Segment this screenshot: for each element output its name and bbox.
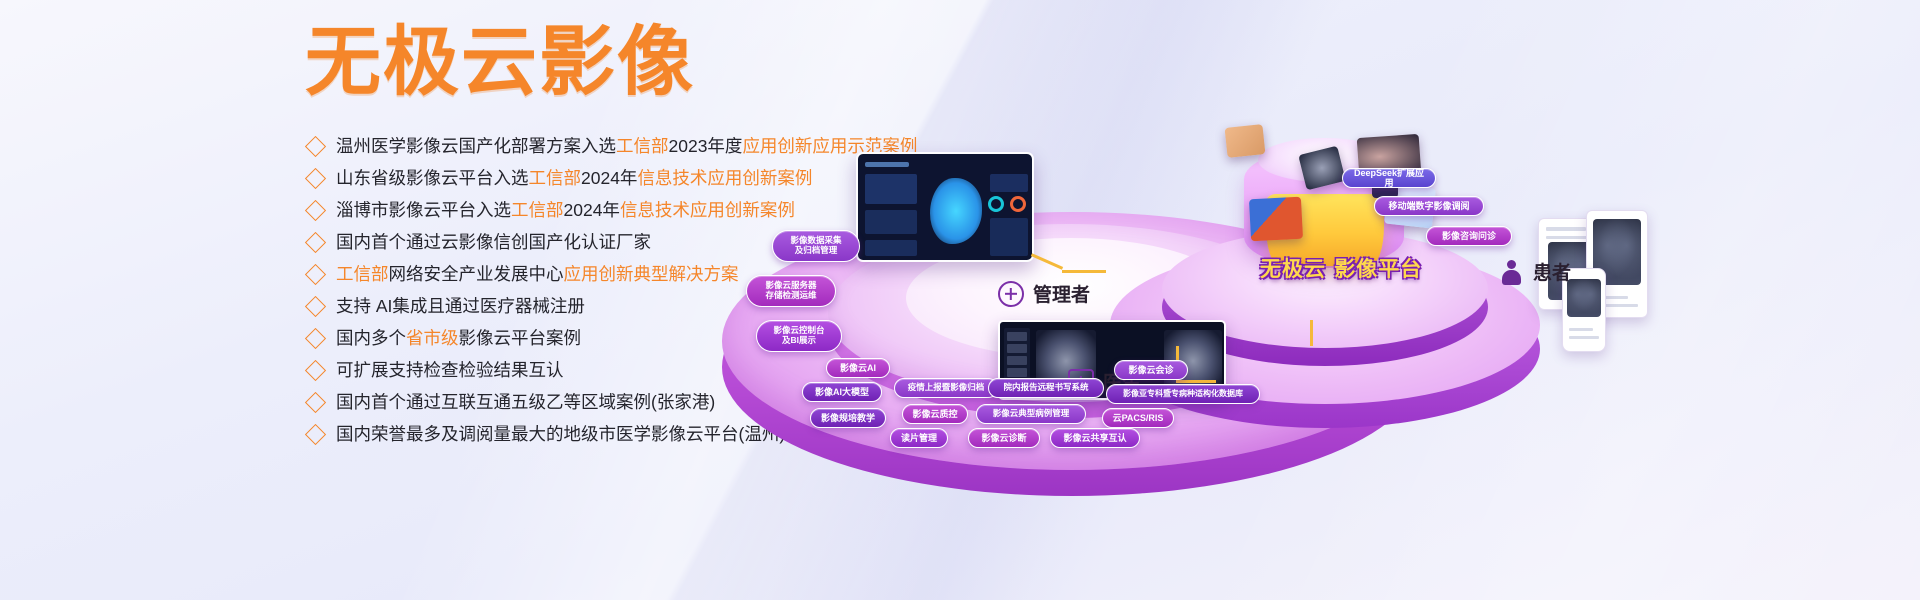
- bullet-text: 国内首个通过云影像信创国产化认证厂家: [336, 226, 651, 258]
- bullet-text-segment: 国内首个通过云影像信创国产化认证厂家: [336, 232, 651, 252]
- bullet-text-segment: 工信部: [616, 136, 669, 156]
- admin-plus-circle-icon: [998, 281, 1024, 307]
- bullet-text-segment: 工信部: [511, 200, 564, 220]
- pill-capability[interactable]: 影像咨询问诊: [1426, 226, 1512, 246]
- diamond-bullet-icon: [305, 360, 326, 381]
- scan-thumb-4: [1249, 197, 1303, 242]
- bullet-text: 国内多个省市级影像云平台案例: [336, 322, 581, 354]
- role-admin-label: 管理者: [1033, 280, 1090, 307]
- role-admin[interactable]: 管理者: [998, 280, 1090, 307]
- connector-line-5: [1310, 320, 1313, 346]
- diamond-bullet-icon: [305, 232, 326, 253]
- bullet-text-segment: 网络安全产业发展中心: [389, 264, 564, 284]
- bullet-text: 工信部网络安全产业发展中心应用创新典型解决方案: [336, 258, 739, 290]
- bullet-text: 国内首个通过互联互通五级乙等区域案例(张家港): [336, 386, 715, 418]
- pill-capability[interactable]: 影像云控制台 及BI展示: [756, 320, 842, 352]
- bullet-text-segment: 2024年: [581, 168, 637, 188]
- pill-capability[interactable]: 影像云质控: [902, 404, 968, 424]
- role-patient[interactable]: 患者: [1498, 258, 1571, 285]
- diamond-bullet-icon: [305, 136, 326, 157]
- bullet-text-segment: 省市级: [406, 328, 459, 348]
- bullet-text-segment: 山东省级影像云平台入选: [336, 168, 529, 188]
- pill-capability[interactable]: 移动端数字影像调阅: [1374, 196, 1484, 216]
- pill-capability[interactable]: 影像云共享互认: [1050, 428, 1140, 448]
- pill-capability[interactable]: 读片管理: [890, 428, 948, 448]
- cloud-imaging-infographic: 无极云 影像平台 管理者 医生 患者 影像数据采集 及归档管理 影像云服务器 存…: [710, 120, 1800, 590]
- pill-capability[interactable]: 影像云诊断: [968, 428, 1040, 448]
- pill-capability[interactable]: 云PACS/RIS: [1102, 408, 1174, 428]
- scan-thumb-1: [1225, 124, 1266, 158]
- bullet-text-segment: 2024年: [564, 200, 620, 220]
- pill-capability[interactable]: 影像规培教学: [810, 408, 886, 428]
- page-title: 无极云影像: [305, 24, 695, 100]
- diamond-bullet-icon: [305, 392, 326, 413]
- platform-badge: 无极云 影像平台: [1260, 258, 1380, 281]
- pill-capability[interactable]: 影像数据采集 及归档管理: [772, 230, 860, 262]
- bullet-text-segment: 可扩展支持检查检验结果互认: [336, 360, 564, 380]
- pill-capability[interactable]: DeepSeek扩展应用: [1342, 168, 1436, 188]
- bullet-text: 可扩展支持检查检验结果互认: [336, 354, 564, 386]
- role-patient-label: 患者: [1533, 258, 1571, 285]
- pill-capability[interactable]: 影像亚专科暨专病种适构化数据库: [1106, 384, 1260, 404]
- pill-capability[interactable]: 院内报告远程书写系统: [988, 378, 1104, 398]
- bullet-text-segment: 国内首个通过互联互通五级乙等区域案例(张家港): [336, 392, 715, 412]
- diamond-bullet-icon: [305, 424, 326, 445]
- bullet-text-segment: 淄博市影像云平台入选: [336, 200, 511, 220]
- patient-person-icon: [1498, 259, 1524, 285]
- banner-stage: 无极云影像 温州医学影像云国产化部署方案入选工信部2023年度应用创新应用示范案…: [0, 0, 1920, 600]
- diamond-bullet-icon: [305, 328, 326, 349]
- pill-capability[interactable]: 影像云典型病例管理: [976, 404, 1086, 424]
- pill-capability[interactable]: 影像AI大模型: [802, 382, 882, 402]
- bullet-text: 支持 AI集成且通过医疗器械注册: [336, 290, 585, 322]
- bullet-text-segment: 工信部: [529, 168, 582, 188]
- bullet-text-segment: 温州医学影像云国产化部署方案入选: [336, 136, 616, 156]
- bullet-text-segment: 国内多个: [336, 328, 406, 348]
- diamond-bullet-icon: [305, 264, 326, 285]
- bullet-text-segment: 支持 AI集成且通过医疗器械注册: [336, 296, 585, 316]
- pill-capability[interactable]: 影像云AI: [826, 358, 890, 378]
- connector-line-2: [1062, 270, 1106, 273]
- bullet-text-segment: 工信部: [336, 264, 389, 284]
- diamond-bullet-icon: [305, 296, 326, 317]
- pill-capability[interactable]: 疫情上报暨影像归档: [894, 378, 998, 398]
- bullet-text-segment: 影像云平台案例: [459, 328, 582, 348]
- diamond-bullet-icon: [305, 200, 326, 221]
- pill-capability[interactable]: 影像云会诊: [1114, 360, 1188, 380]
- pill-capability[interactable]: 影像云服务器 存储检测运维: [746, 275, 836, 307]
- diamond-bullet-icon: [305, 168, 326, 189]
- analytics-dashboard-screen: [856, 152, 1034, 262]
- connector-line-4: [1176, 380, 1216, 383]
